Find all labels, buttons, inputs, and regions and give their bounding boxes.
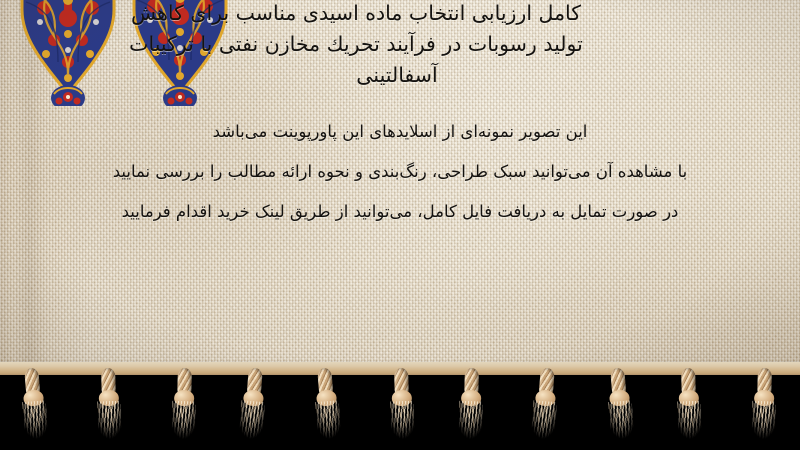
carpet-fringe-row (0, 368, 800, 450)
title-line-2: تولید رسوبات در فرآیند تحریك مخازن نفتی … (2, 29, 792, 60)
fringe-tassel-brush (97, 401, 122, 440)
title-line-1: کامل ارزیابی انتخاب ماده اسیدی مناسب برا… (2, 0, 792, 29)
fringe-tassel-brush (677, 401, 702, 440)
fringe-tassel (311, 367, 343, 441)
fringe-tassel (750, 368, 778, 441)
fringe-tassel (170, 368, 198, 441)
slide-title: کامل ارزیابی انتخاب ماده اسیدی مناسب برا… (2, 0, 792, 91)
fringe-tassel-brush (531, 400, 558, 440)
fringe-tassel-brush (315, 400, 342, 440)
slide-body-text: این تصویر نمونه‌ای از اسلایدهای این پاور… (6, 112, 794, 232)
fringe-tassel-brush (608, 400, 635, 440)
fringe-tassel-brush (751, 401, 776, 440)
fringe-tassel (388, 368, 416, 441)
fringe-tassel-brush (22, 400, 49, 440)
fringe-tassel (530, 367, 562, 441)
fringe-tassel-brush (238, 400, 265, 440)
fringe-tassel (457, 368, 485, 441)
title-line-3: آسفالتینی (2, 60, 792, 91)
body-line-1: این تصویر نمونه‌ای از اسلایدهای این پاور… (6, 112, 794, 152)
fringe-tassel-brush (171, 401, 196, 440)
body-line-3: در صورت تمایل به دریافت فایل کامل، می‌تو… (6, 192, 794, 232)
fringe-tassel (675, 368, 703, 441)
fringe-tassel (19, 367, 51, 441)
fringe-tassel (237, 367, 269, 441)
body-line-2: با مشاهده آن می‌توانید سبک طراحی، رنگ‌بن… (6, 152, 794, 192)
fringe-tassel-brush (458, 401, 483, 440)
slide-canvas: کامل ارزیابی انتخاب ماده اسیدی مناسب برا… (0, 0, 800, 450)
fringe-tassel (95, 368, 123, 441)
fringe-tassel-brush (390, 401, 415, 440)
fringe-tassel (604, 367, 636, 441)
